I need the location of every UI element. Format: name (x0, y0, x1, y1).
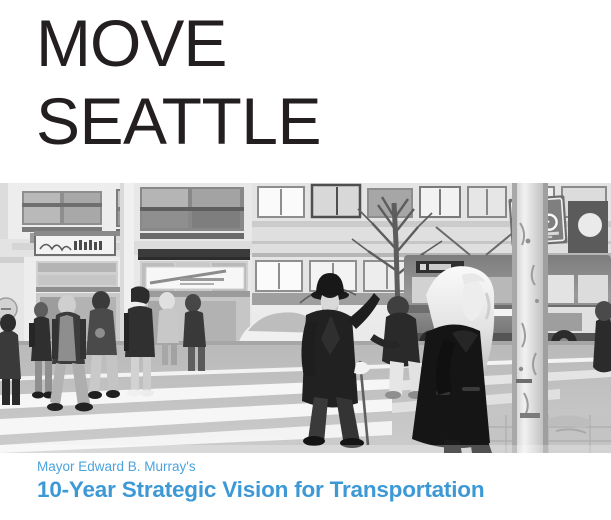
title-line-seattle: SEATTLE (36, 82, 576, 160)
title-line-move: MOVE (36, 4, 576, 82)
caption-kicker: Mayor Edward B. Murray's (37, 459, 484, 475)
storefront-sign (34, 231, 120, 256)
street-scene-illustration (0, 183, 611, 453)
storefront-banner (146, 267, 244, 289)
pedestrian-far-right (593, 301, 611, 372)
caption-headline: 10-Year Strategic Vision for Transportat… (37, 476, 484, 503)
report-cover: MOVE SEATTLE (0, 0, 611, 520)
cover-photograph (0, 183, 611, 453)
cover-caption: Mayor Edward B. Murray's 10-Year Strateg… (37, 459, 484, 503)
cover-title: MOVE SEATTLE (36, 4, 576, 160)
